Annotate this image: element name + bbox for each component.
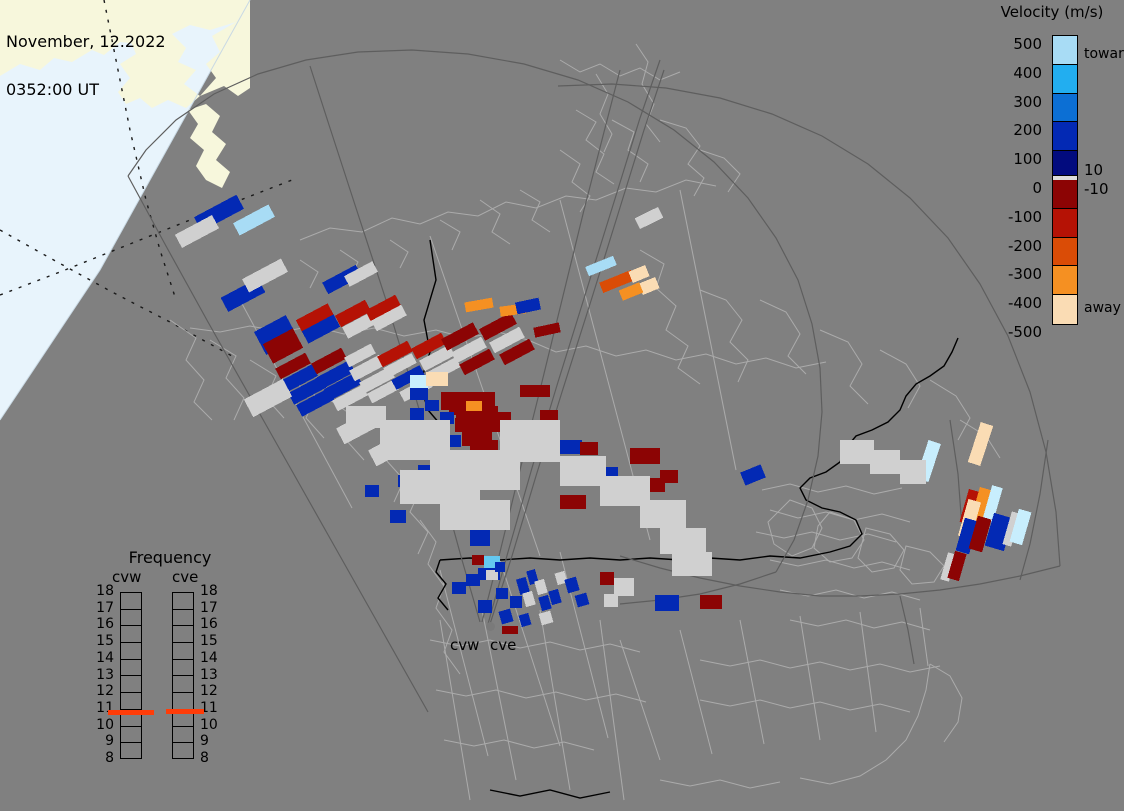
- frequency-tick-cvw-10: 10: [88, 717, 114, 733]
- frequency-tick-cvw-8: 8: [88, 750, 114, 766]
- frequency-tick-cvw-12: 12: [88, 683, 114, 699]
- frequency-rung-cvw-2: [121, 626, 141, 643]
- frequency-tick-cve-18: 18: [200, 583, 218, 599]
- frequency-marker-cvw: [108, 710, 154, 715]
- velocity-cell: [410, 375, 428, 389]
- frequency-rung-cve-4: [173, 660, 193, 677]
- frequency-ladder-cve: [172, 592, 194, 759]
- colorbar-tick-400: 400: [1013, 64, 1042, 82]
- timestamp-time: 0352:00 UT: [6, 82, 166, 98]
- frequency-rung-cvw-4: [121, 660, 141, 677]
- frequency-tick-cve-12: 12: [200, 683, 218, 699]
- colorbar-tick-neg500: -500: [1008, 323, 1042, 341]
- frequency-tick-cvw-14: 14: [88, 650, 114, 666]
- velocity-cell: [580, 442, 598, 455]
- colorbar-tick-200: 200: [1013, 121, 1042, 139]
- superdarn-velocity-map: November, 12.2022 0352:00 UT Velocity (m…: [0, 0, 1124, 811]
- frequency-rung-cve-3: [173, 643, 193, 660]
- frequency-rung-cvw-5: [121, 676, 141, 693]
- velocity-cell: [496, 588, 508, 599]
- colorbar-band-5: [1053, 180, 1077, 209]
- velocity-cell: [466, 401, 482, 411]
- velocity-cell: [640, 500, 686, 528]
- frequency-tick-cve-16: 16: [200, 616, 218, 632]
- velocity-cell: [440, 500, 510, 530]
- colorbar-tick-neg200: -200: [1008, 237, 1042, 255]
- frequency-legend-title: Frequency: [80, 548, 260, 567]
- velocity-cell: [510, 596, 522, 608]
- frequency-tick-cve-8: 8: [200, 750, 209, 766]
- velocity-cell: [470, 528, 490, 546]
- colorbar-gradient: [1052, 35, 1078, 325]
- frequency-tick-cvw-16: 16: [88, 616, 114, 632]
- frequency-rung-cve-5: [173, 676, 193, 693]
- colorbar-tick-100: 100: [1013, 150, 1042, 168]
- radar-site-label-cvw: cvw: [450, 636, 479, 654]
- colorbar-tick-neg100: -100: [1008, 208, 1042, 226]
- velocity-cell: [500, 420, 560, 454]
- frequency-rung-cve-0: [173, 593, 193, 610]
- frequency-column-label-cve: cve: [172, 568, 198, 586]
- velocity-cell: [660, 528, 706, 554]
- colorbar-tick-neg400: -400: [1008, 294, 1042, 312]
- colorbar-tick-0: 0: [1032, 179, 1042, 197]
- velocity-cell: [390, 510, 406, 523]
- frequency-rung-cvw-6: [121, 693, 141, 710]
- colorbar-band-3: [1053, 122, 1077, 151]
- velocity-cell: [560, 495, 586, 509]
- frequency-rung-cvw-0: [121, 593, 141, 610]
- velocity-cell: [495, 562, 505, 572]
- frequency-tick-cvw-18: 18: [88, 583, 114, 599]
- velocity-cell: [870, 450, 900, 474]
- frequency-tick-cve-9: 9: [200, 733, 209, 749]
- frequency-column-label-cvw: cvw: [112, 568, 141, 586]
- colorbar-tick-300: 300: [1013, 93, 1042, 111]
- frequency-rung-cve-2: [173, 626, 193, 643]
- colorbar-upper-threshold-label: 10: [1084, 161, 1103, 179]
- velocity-cell: [660, 470, 678, 483]
- colorbar-lower-threshold-label: -10: [1084, 180, 1109, 198]
- velocity-cell: [380, 420, 450, 460]
- frequency-ladder-cvw: [120, 592, 142, 759]
- colorbar-band-4: [1053, 151, 1077, 176]
- velocity-cell: [502, 626, 518, 634]
- colorbar-band-8: [1053, 266, 1077, 295]
- velocity-cell: [400, 470, 480, 504]
- frequency-tick-cve-13: 13: [200, 667, 218, 683]
- velocity-cell: [600, 572, 614, 585]
- frequency-tick-cvw-13: 13: [88, 667, 114, 683]
- colorbar-band-7: [1053, 238, 1077, 267]
- velocity-cell: [900, 460, 926, 484]
- colorbar-toward-label: toward: [1084, 46, 1124, 62]
- velocity-cell: [452, 582, 466, 594]
- velocity-cell: [410, 388, 428, 400]
- velocity-cell: [346, 406, 386, 428]
- frequency-tick-cvw-17: 17: [88, 600, 114, 616]
- velocity-cell: [840, 440, 874, 464]
- frequency-tick-cvw-9: 9: [88, 733, 114, 749]
- velocity-cell: [478, 600, 492, 613]
- timestamp-date: November, 12.2022: [6, 34, 166, 50]
- velocity-cell: [655, 595, 679, 611]
- colorbar-band-6: [1053, 209, 1077, 238]
- frequency-rung-cvw-1: [121, 610, 141, 627]
- velocity-cell: [630, 448, 660, 464]
- colorbar-band-1: [1053, 65, 1077, 94]
- velocity-cell: [700, 595, 722, 609]
- colorbar-tick-neg300: -300: [1008, 265, 1042, 283]
- colorbar-title: Velocity (m/s): [984, 3, 1120, 21]
- colorbar-band-0: [1053, 36, 1077, 65]
- frequency-rung-cve-8: [173, 727, 193, 744]
- frequency-tick-cve-17: 17: [200, 600, 218, 616]
- velocity-cell: [365, 485, 379, 497]
- frequency-rung-cve-9: [173, 743, 193, 760]
- timestamp: November, 12.2022 0352:00 UT: [6, 2, 166, 130]
- velocity-cell: [472, 555, 484, 565]
- frequency-marker-cve: [166, 709, 204, 714]
- frequency-tick-cvw-15: 15: [88, 633, 114, 649]
- velocity-cell: [614, 578, 634, 596]
- velocity-cell: [520, 385, 550, 397]
- frequency-rung-cvw-9: [121, 743, 141, 760]
- colorbar-band-2: [1053, 94, 1077, 123]
- frequency-rung-cve-6: [173, 693, 193, 710]
- colorbar-band-9: [1053, 295, 1077, 324]
- colorbar-away-label: away: [1084, 300, 1121, 316]
- frequency-rung-cve-1: [173, 610, 193, 627]
- frequency-tick-cve-14: 14: [200, 650, 218, 666]
- velocity-cell: [425, 400, 439, 411]
- velocity-cell: [466, 574, 480, 586]
- velocity-cell: [560, 440, 582, 454]
- radar-site-marker: [486, 622, 495, 631]
- velocity-cell: [426, 372, 448, 386]
- frequency-tick-cve-15: 15: [200, 633, 218, 649]
- velocity-colorbar-panel: Velocity (m/s) 5004003002001000-100-200-…: [980, 0, 1124, 340]
- velocity-cell: [560, 456, 606, 486]
- colorbar-tick-500: 500: [1013, 35, 1042, 53]
- frequency-legend-panel: Frequency cvw cve 18171615141312111098 1…: [80, 548, 260, 778]
- radar-site-label-cve: cve: [490, 636, 516, 654]
- velocity-cell: [604, 594, 618, 607]
- frequency-tick-cve-10: 10: [200, 717, 218, 733]
- velocity-cell: [410, 408, 424, 420]
- frequency-rung-cvw-3: [121, 643, 141, 660]
- velocity-cell: [672, 552, 712, 576]
- frequency-rung-cvw-8: [121, 727, 141, 744]
